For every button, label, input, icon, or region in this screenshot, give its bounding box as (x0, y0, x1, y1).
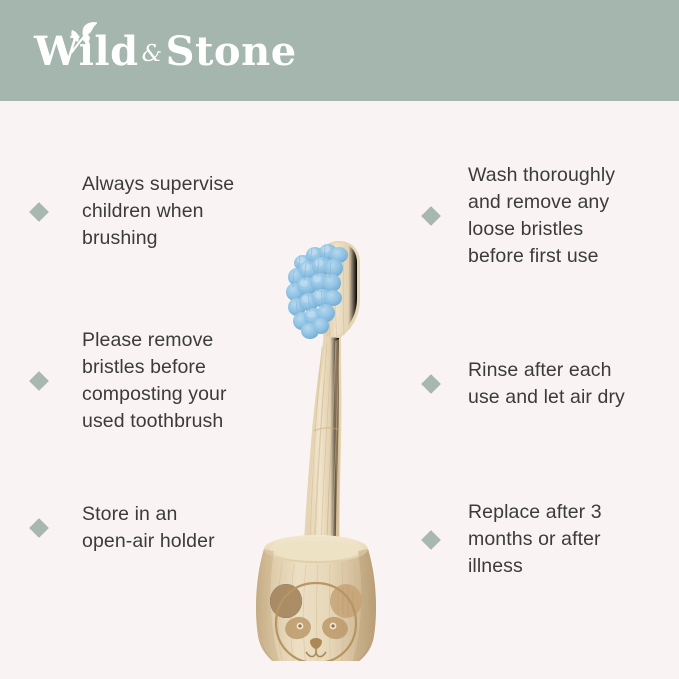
tip-text: Please remove bristles before composting… (82, 327, 227, 435)
tip-supervise-children: Always supervise children when brushing (32, 171, 292, 252)
tip-wash-before-first-use: Wash thoroughly and remove any loose bri… (424, 162, 674, 270)
brand-header: Wild&Stone (0, 0, 679, 101)
diamond-bullet-icon (421, 530, 441, 550)
tip-remove-bristles-before-composting: Please remove bristles before composting… (32, 327, 292, 435)
tip-text: Rinse after each use and let air dry (468, 357, 625, 411)
content-area: Always supervise children when brushing … (0, 101, 679, 679)
tip-text: Always supervise children when brushing (82, 171, 234, 252)
tip-text: Wash thoroughly and remove any loose bri… (468, 162, 615, 270)
brand-logo: Wild&Stone (34, 26, 334, 86)
diamond-bullet-icon (421, 206, 441, 226)
brand-ampersand: & (139, 41, 166, 67)
tip-text: Store in an open-air holder (82, 501, 215, 555)
tip-replace-after-3-months: Replace after 3 months or after illness (424, 499, 674, 580)
diamond-bullet-icon (29, 371, 49, 391)
diamond-bullet-icon (29, 202, 49, 222)
tip-text: Replace after 3 months or after illness (468, 499, 602, 580)
brand-word-wild: Wild (34, 28, 139, 75)
tip-store-open-air-holder: Store in an open-air holder (32, 501, 292, 555)
diamond-bullet-icon (421, 374, 441, 394)
diamond-bullet-icon (29, 518, 49, 538)
brand-logo-text: Wild&Stone (34, 26, 334, 84)
brand-word-stone: Stone (166, 28, 297, 75)
tip-rinse-and-air-dry: Rinse after each use and let air dry (424, 357, 674, 411)
